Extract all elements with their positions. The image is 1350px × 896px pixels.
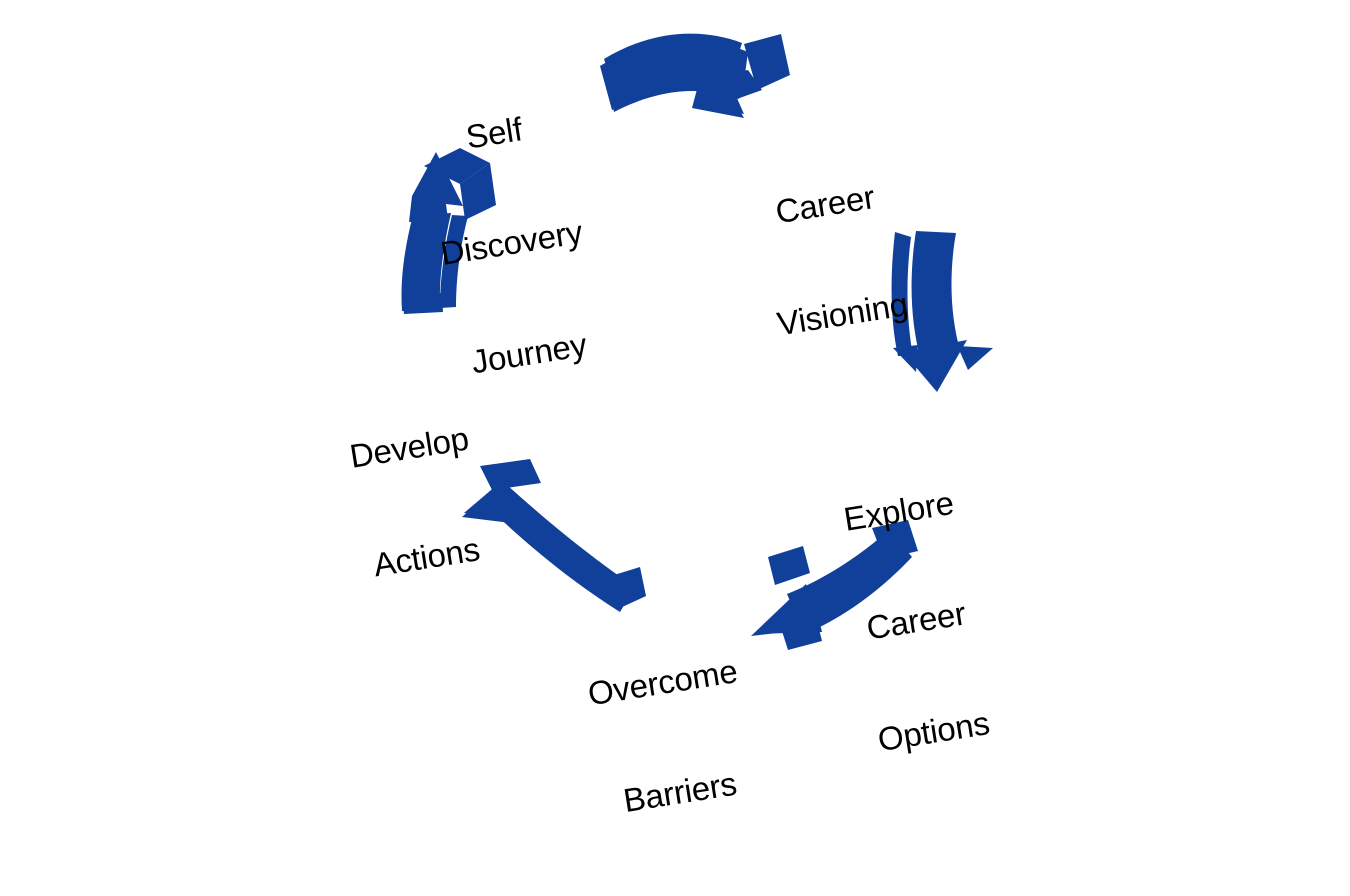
arrow-top <box>600 34 790 128</box>
diagram-canvas: Self Discovery Journey Career Visioning … <box>0 0 1350 742</box>
stage-label-line: Barriers <box>603 762 758 822</box>
stage-label-line: Career <box>858 594 975 648</box>
stage-label-line: Self <box>420 103 567 162</box>
stage-label-line: Explore <box>840 483 957 537</box>
stage-label-line: Options <box>875 704 992 758</box>
stage-label-line: Develop <box>347 419 471 475</box>
stage-label-line: Visioning <box>775 286 911 343</box>
stage-label-line: Journey <box>455 324 602 383</box>
stage-label-line: Discovery <box>438 213 585 272</box>
stage-label-line: Overcome <box>585 652 740 712</box>
stage-label-line: Career <box>757 175 893 232</box>
stage-label-line: Actions <box>365 530 489 586</box>
